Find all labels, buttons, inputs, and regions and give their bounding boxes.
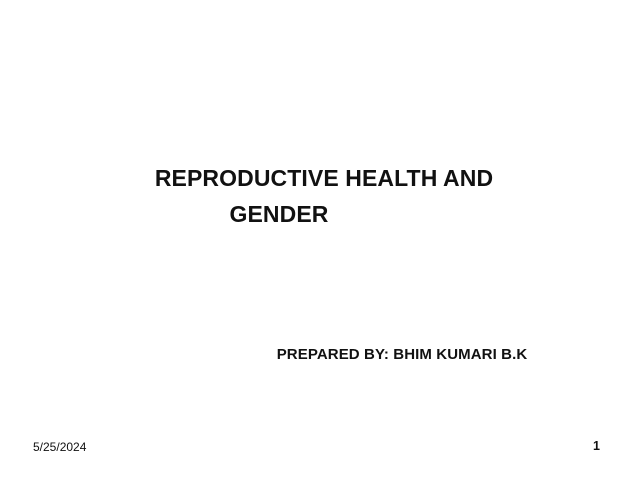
slide-title-line-2: GENDER	[0, 196, 640, 232]
footer-page-number: 1	[593, 439, 600, 453]
slide-title-line-1: REPRODUCTIVE HEALTH AND	[0, 160, 640, 196]
slide-subtitle-author: PREPARED BY: BHIM KUMARI B.K	[113, 344, 528, 366]
slide-title: REPRODUCTIVE HEALTH AND GENDER	[0, 160, 640, 232]
footer-date: 5/25/2024	[33, 440, 86, 454]
slide-footer: 5/25/2024 1	[0, 434, 640, 480]
slide-canvas: REPRODUCTIVE HEALTH AND GENDER PREPARED …	[0, 0, 640, 480]
slide-subtitle: PREPARED BY: BHIM KUMARI B.K	[0, 344, 640, 366]
